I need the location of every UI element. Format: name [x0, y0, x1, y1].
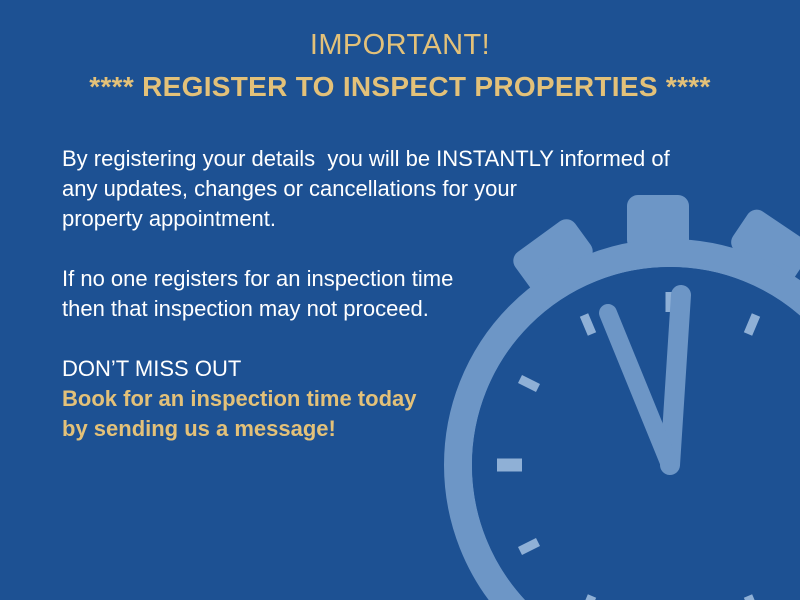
paragraph-no-registration-warning: If no one registers for an inspection ti… [62, 264, 722, 324]
paragraph-registering-details: By registering your details you will be … [62, 144, 722, 234]
paragraph-call-to-action: DON’T MISS OUT Book for an inspection ti… [62, 354, 722, 444]
cta-line-send-message: by sending us a message! [62, 414, 722, 444]
paragraph2-line1: If no one registers for an inspection ti… [62, 264, 722, 294]
text-layer: IMPORTANT! **** REGISTER TO INSPECT PROP… [0, 0, 800, 600]
promotional-slide: IMPORTANT! **** REGISTER TO INSPECT PROP… [0, 0, 800, 600]
body-block: By registering your details you will be … [62, 144, 722, 444]
paragraph1-line3: property appointment. [62, 204, 722, 234]
page-subtitle: **** REGISTER TO INSPECT PROPERTIES **** [0, 70, 800, 104]
paragraph2-line2: then that inspection may not proceed. [62, 294, 722, 324]
heading-block: IMPORTANT! **** REGISTER TO INSPECT PROP… [0, 28, 800, 104]
page-title: IMPORTANT! [0, 28, 800, 62]
cta-line-book-inspection: Book for an inspection time today [62, 384, 722, 414]
paragraph1-line2: any updates, changes or cancellations fo… [62, 174, 722, 204]
dont-miss-out-line: DON’T MISS OUT [62, 354, 722, 384]
paragraph1-line1: By registering your details you will be … [62, 144, 722, 174]
